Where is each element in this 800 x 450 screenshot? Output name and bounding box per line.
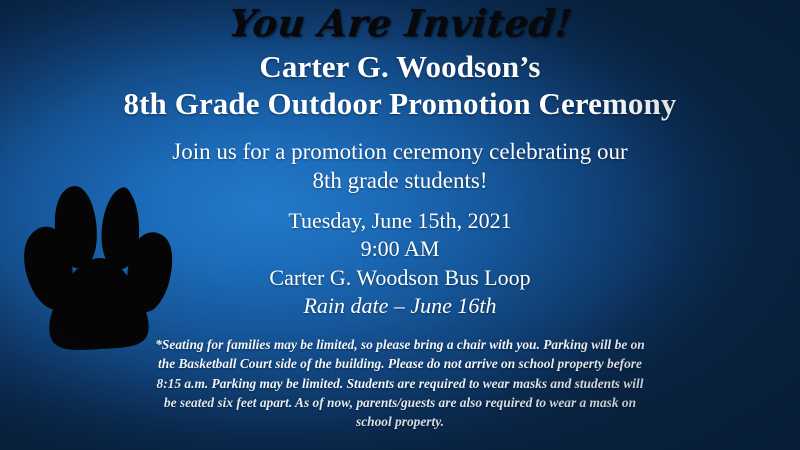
page-title: Carter G. Woodson’s 8th Grade Outdoor Pr…	[124, 49, 677, 122]
fine-print-line-2: the Basketball Court side of the buildin…	[130, 354, 670, 373]
headline-line-1: Carter G. Woodson’s	[259, 49, 540, 84]
invitation-flyer: You Are Invited! Carter G. Woodson’s 8th…	[0, 0, 800, 450]
event-date: Tuesday, June 15th, 2021	[269, 207, 530, 236]
headline-line-2: 8th Grade Outdoor Promotion Ceremony	[124, 86, 677, 123]
flyer-content: You Are Invited! Carter G. Woodson’s 8th…	[0, 0, 800, 450]
lead-paragraph: Join us for a promotion ceremony celebra…	[172, 138, 627, 196]
event-time: 9:00 AM	[269, 235, 530, 264]
fine-print-line-3: 8:15 a.m. Parking may be limited. Studen…	[130, 374, 670, 393]
fine-print-notice: *Seating for families may be limited, so…	[130, 335, 670, 431]
invitation-script-title: You Are Invited!	[227, 5, 574, 42]
lead-line-1: Join us for a promotion ceremony celebra…	[172, 138, 627, 167]
event-rain-date: Rain date – June 16th	[269, 292, 530, 321]
fine-print-line-1: *Seating for families may be limited, so…	[130, 335, 670, 354]
event-details: Tuesday, June 15th, 2021 9:00 AM Carter …	[269, 207, 530, 321]
event-location: Carter G. Woodson Bus Loop	[269, 264, 530, 293]
fine-print-line-4: be seated six feet apart. As of now, par…	[130, 393, 670, 412]
lead-line-2: 8th grade students!	[172, 167, 627, 196]
fine-print-line-5: school property.	[130, 412, 670, 431]
